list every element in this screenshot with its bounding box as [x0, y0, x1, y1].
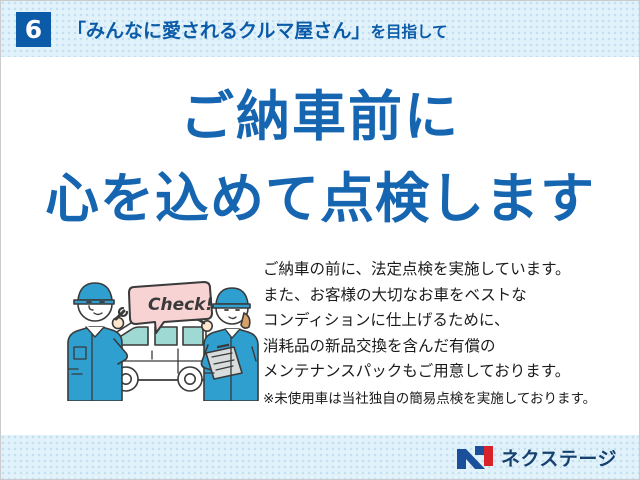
mechanics-illustration: Check! — [56, 269, 266, 401]
body-line: コンディションに仕上げるために、 — [263, 311, 509, 329]
headline-secondary: 心を込めて点検します — [1, 169, 639, 229]
step-number-badge: 6 — [16, 12, 51, 47]
mechanic-left-figure — [68, 283, 127, 401]
nextage-n-mark-icon — [456, 445, 494, 470]
advertisement-banner: 6 「みんなに愛されるクルマ屋さん」を目指して ご納車前に 心を込めて点検します… — [0, 0, 640, 480]
header: 6 「みんなに愛されるクルマ屋さん」を目指して — [1, 1, 447, 57]
body-line: メンテナンスパックもご用意しております。 — [263, 362, 570, 380]
body-note: ※未使用車は当社独自の簡易点検を実施しております。 — [263, 387, 635, 411]
body-line: また、お客様の大切なお車をベストな — [263, 286, 527, 304]
header-caption-tail: を目指して — [370, 23, 447, 41]
body-copy: ご納車の前に、法定点検を実施しています。 また、お客様の大切なお車をベストな コ… — [263, 257, 635, 411]
header-caption: 「みんなに愛されるクルマ屋さん」を目指して — [67, 16, 447, 43]
header-caption-main: 「みんなに愛されるクルマ屋さん」 — [67, 20, 370, 42]
brand-logo: ネクステージ — [456, 443, 617, 471]
body-line: ご納車の前に、法定点検を実施しています。 — [263, 260, 571, 278]
brand-logo-text: ネクステージ — [501, 444, 617, 471]
check-bubble-label: Check! — [148, 295, 213, 315]
headline-primary: ご納車前に — [1, 87, 639, 147]
body-line: 消耗品の新品交換を含んだ有償の — [263, 337, 496, 355]
